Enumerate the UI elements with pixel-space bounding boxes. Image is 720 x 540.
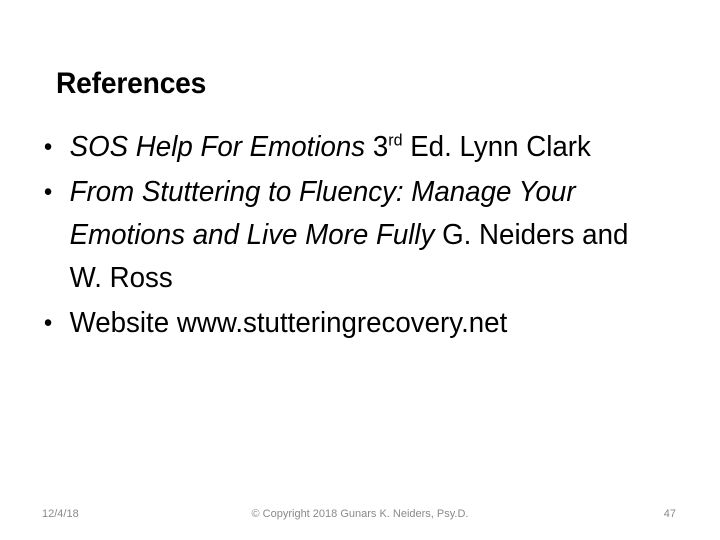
reference-title-text: From Stuttering to Fluency: Manage Your [70, 176, 576, 208]
bullet-point-icon: • [44, 302, 52, 345]
reference-title-text: SOS Help For Emotions [70, 131, 366, 163]
reference-sos-help-for-emotions: •SOS Help For Emotions 3rd Ed. Lynn Clar… [40, 126, 661, 169]
reference-detail-text: 3 [365, 131, 388, 163]
page-title: References [56, 64, 639, 104]
bullet-point-icon: • [44, 171, 52, 214]
reference-from-stuttering-to-fluency: •From Stuttering to Fluency: Manage Your… [40, 171, 661, 300]
slide-footer: 12/4/18 © Copyright 2018 Gunars K. Neide… [0, 503, 720, 525]
reference-title-text: Emotions and Live More Fully [70, 219, 435, 251]
reference-line: Website www.stutteringrecovery.net [70, 302, 661, 345]
reference-detail-text: W. Ross [70, 262, 173, 294]
ordinal-superscript: rd [388, 130, 402, 149]
slide-references: References •SOS Help For Emotions 3rd Ed… [0, 0, 720, 540]
footer-copyright: © Copyright 2018 Gunars K. Neiders, Psy.… [0, 503, 720, 525]
reference-line: Emotions and Live More Fully G. Neiders … [70, 214, 661, 257]
reference-detail-text: G. Neiders and [434, 219, 628, 251]
bullet-point-icon: • [44, 126, 52, 169]
reference-line: SOS Help For Emotions 3rd Ed. Lynn Clark [70, 126, 661, 169]
reference-line: From Stuttering to Fluency: Manage Your [70, 171, 661, 214]
reference-website: •Website www.stutteringrecovery.net [40, 302, 661, 345]
reference-detail-text: Website www.stutteringrecovery.net [70, 307, 508, 339]
reference-line: W. Ross [70, 257, 661, 300]
reference-detail-text: Ed. Lynn Clark [403, 131, 591, 163]
footer-page-number: 47 [664, 503, 676, 525]
references-list: •SOS Help For Emotions 3rd Ed. Lynn Clar… [40, 126, 690, 347]
